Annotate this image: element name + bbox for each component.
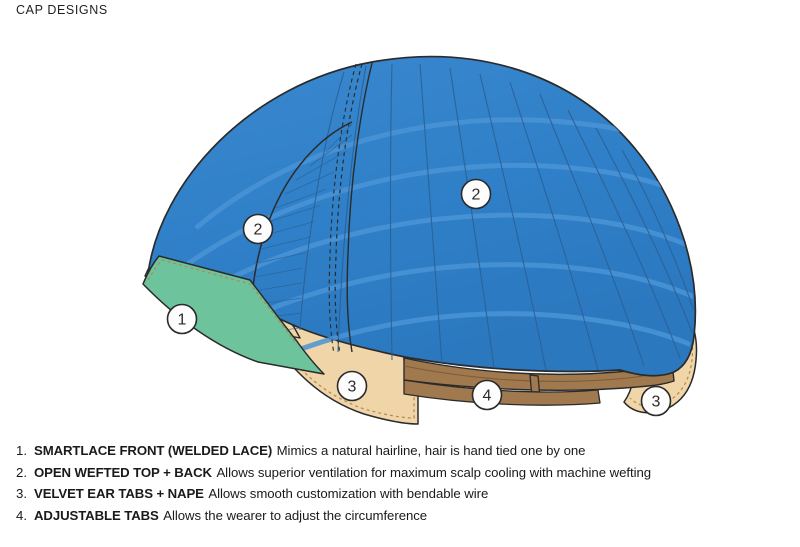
page-title: CAP DESIGNS xyxy=(16,3,108,17)
legend-number: 2. xyxy=(16,462,34,484)
callout-marker-2-right-label: 2 xyxy=(472,187,481,204)
legend-term: ADJUSTABLE TABS xyxy=(34,505,159,527)
legend-term: OPEN WEFTED TOP + BACK xyxy=(34,462,212,484)
callout-marker-1: 1 xyxy=(168,305,197,334)
list-item: 3. VELVET EAR TABS + NAPE Allows smooth … xyxy=(16,483,788,505)
list-item: 4. ADJUSTABLE TABS Allows the wearer to … xyxy=(16,505,788,527)
legend-number: 3. xyxy=(16,483,34,505)
callout-marker-4-label: 4 xyxy=(483,388,492,405)
legend-term: VELVET EAR TABS + NAPE xyxy=(34,483,204,505)
legend-number: 4. xyxy=(16,505,34,527)
callout-marker-1-label: 1 xyxy=(178,312,187,329)
legend-description: Allows superior ventilation for maximum … xyxy=(216,462,651,484)
callout-marker-3-nape-label: 3 xyxy=(652,394,661,411)
callout-marker-2-right: 2 xyxy=(462,180,491,209)
callout-marker-3-ear-label: 3 xyxy=(348,379,357,396)
callout-marker-2-left: 2 xyxy=(244,215,273,244)
callout-marker-2-left-label: 2 xyxy=(254,222,263,239)
legend-number: 1. xyxy=(16,440,34,462)
callout-marker-4: 4 xyxy=(473,381,502,410)
legend-description: Allows the wearer to adjust the circumfe… xyxy=(163,505,427,527)
list-item: 1. SMARTLACE FRONT (WELDED LACE) Mimics … xyxy=(16,440,788,462)
legend-description: Allows smooth customization with bendabl… xyxy=(208,483,488,505)
callout-marker-3-ear: 3 xyxy=(338,372,367,401)
legend: 1. SMARTLACE FRONT (WELDED LACE) Mimics … xyxy=(16,440,788,526)
callout-marker-3-nape: 3 xyxy=(642,387,671,416)
list-item: 2. OPEN WEFTED TOP + BACK Allows superio… xyxy=(16,462,788,484)
wig-cap-construction-diagram: 1 2 2 3 3 4 xyxy=(0,22,800,434)
legend-term: SMARTLACE FRONT (WELDED LACE) xyxy=(34,440,272,462)
legend-description: Mimics a natural hairline, hair is hand … xyxy=(277,440,586,462)
